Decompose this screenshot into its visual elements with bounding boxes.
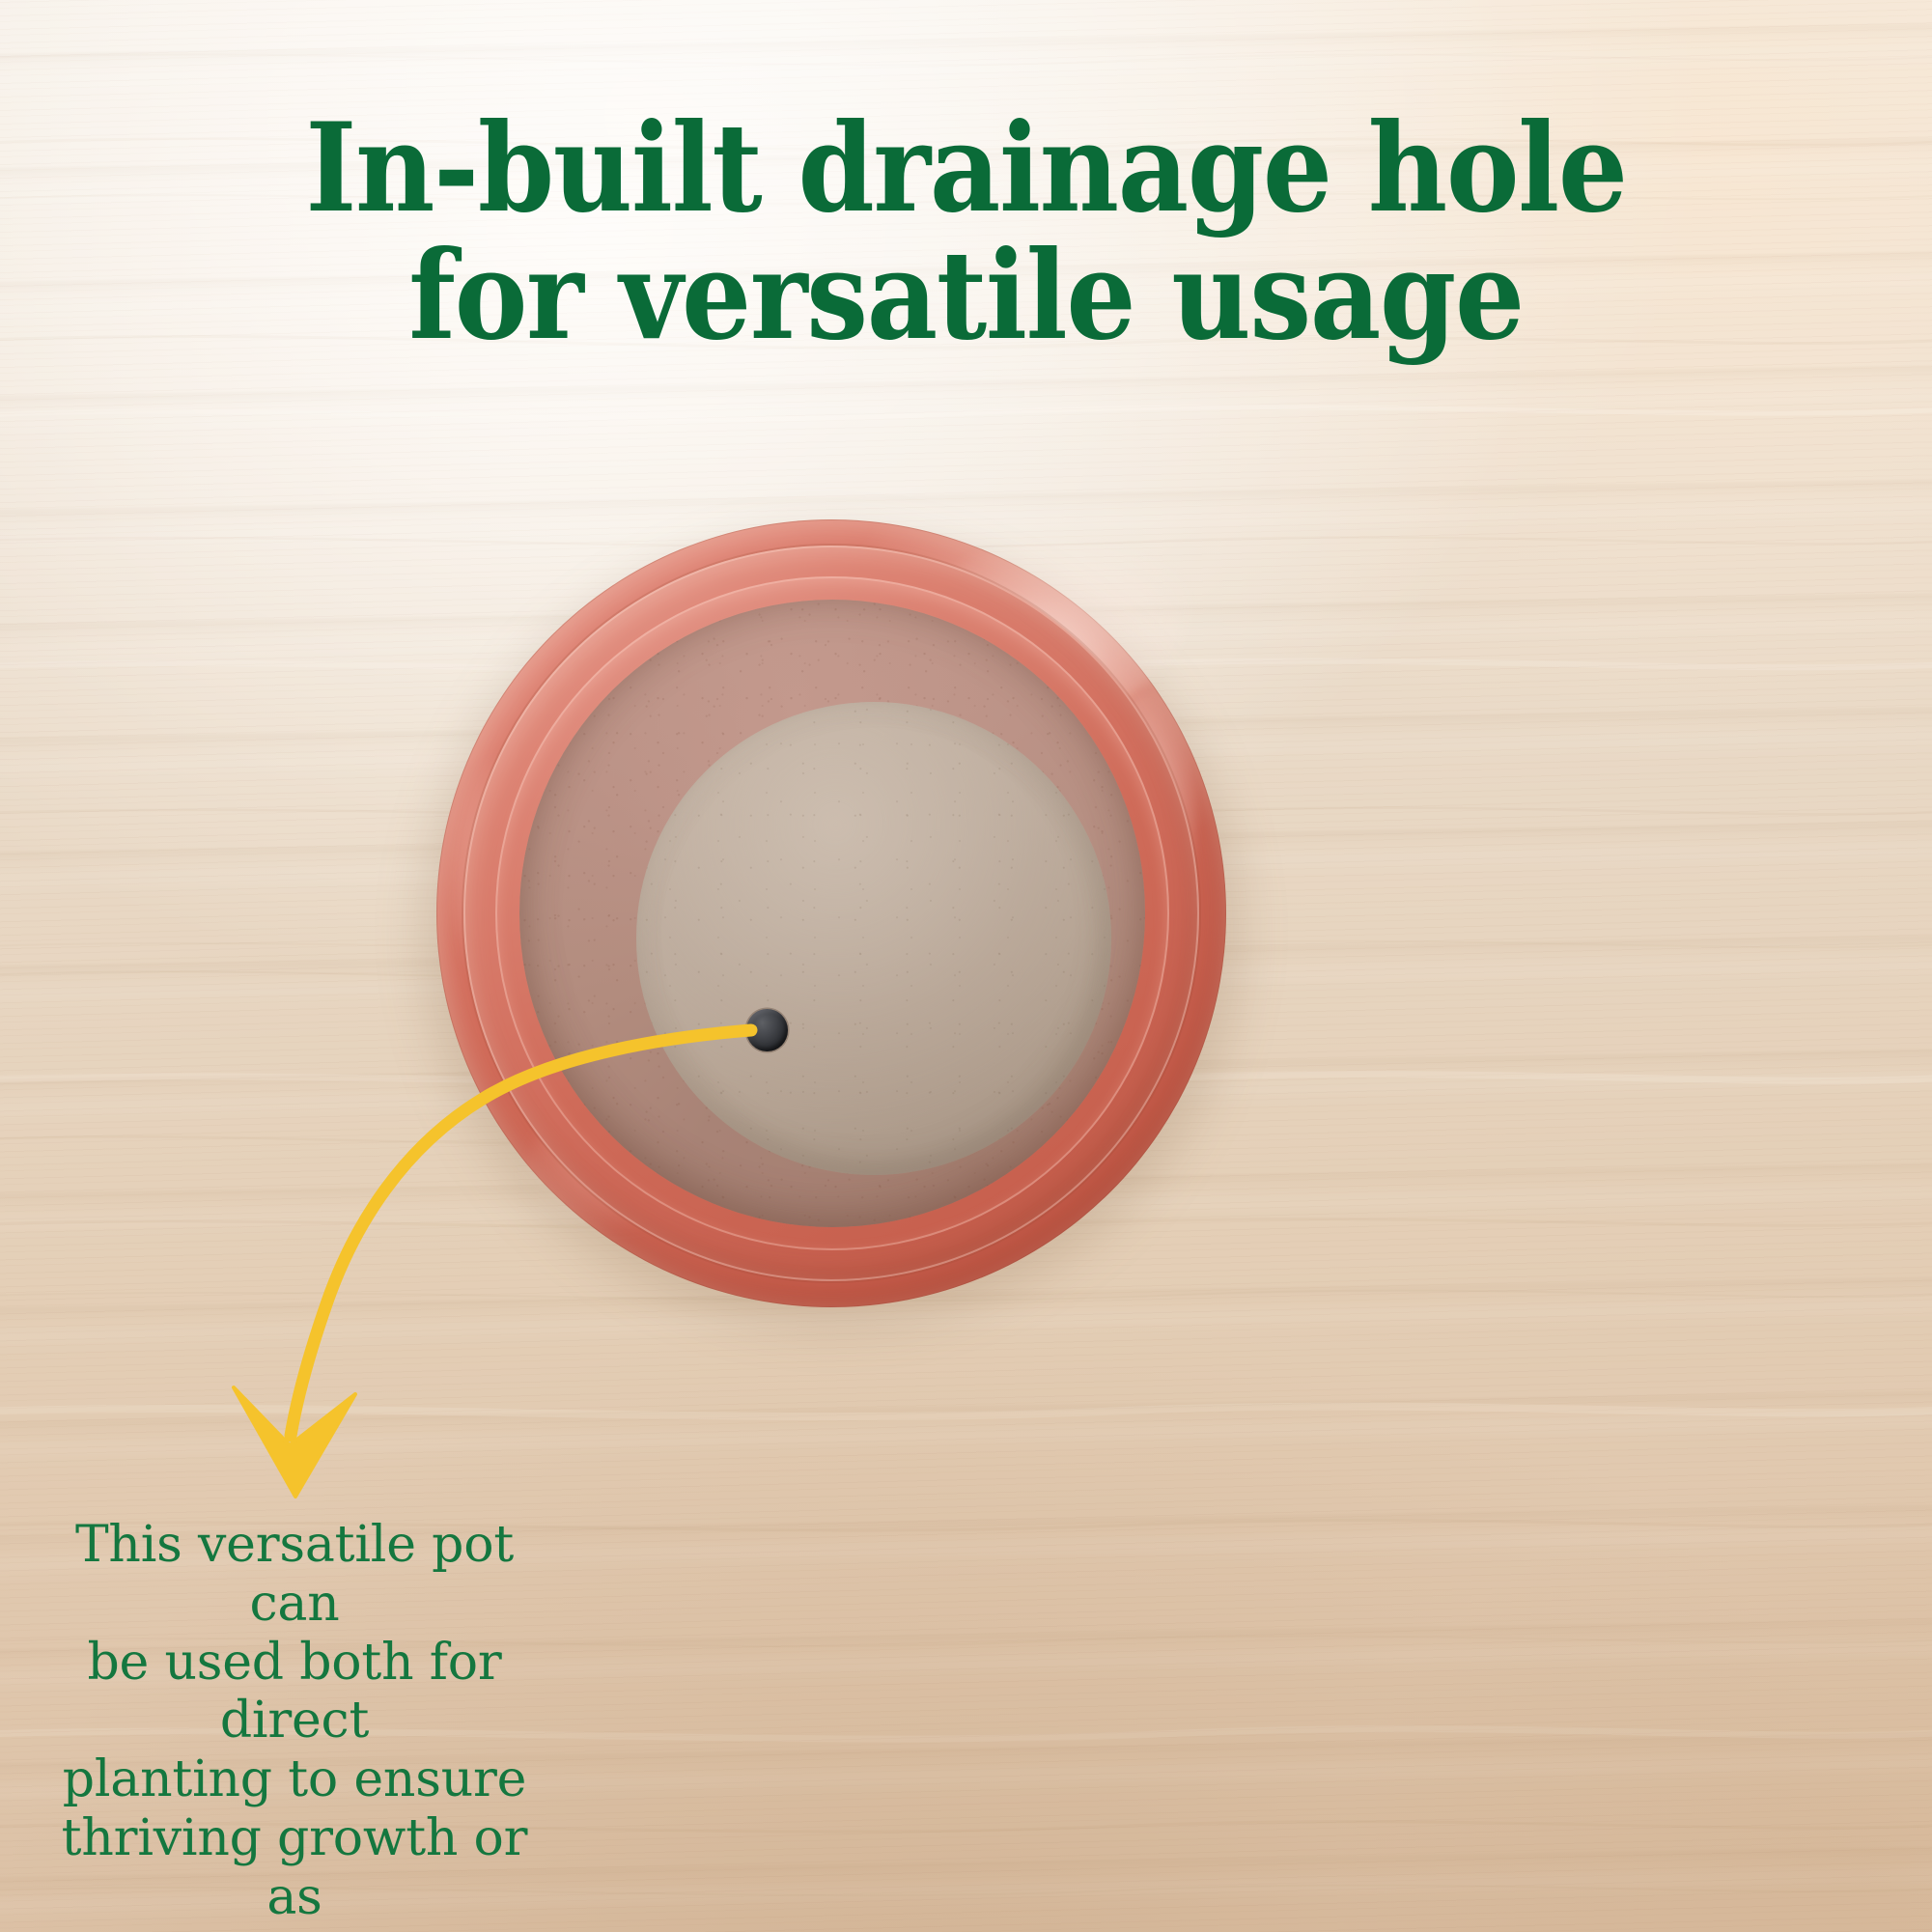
product-feature-image: In-built drainage hole for versatile usa… xyxy=(0,0,1932,1932)
caption-text: This versatile pot can be used both for … xyxy=(29,1516,560,1932)
page-title: In-built drainage hole for versatile usa… xyxy=(97,104,1835,360)
pot-base-texture xyxy=(636,702,1111,1175)
pot-base-disc xyxy=(636,702,1111,1175)
drainage-hole xyxy=(746,1009,788,1051)
terracotta-plant-pot xyxy=(436,519,1226,1307)
